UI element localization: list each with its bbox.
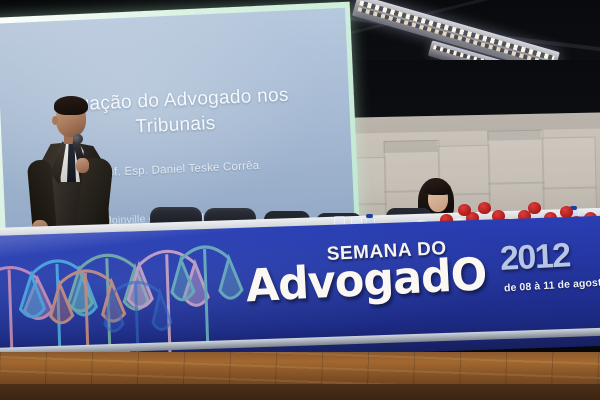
speaker-hand-holding-mic — [76, 158, 89, 173]
red-rose — [528, 202, 541, 214]
banner-advogado-label: AdvogadO — [245, 249, 488, 313]
stage-floor-front-shadow — [0, 384, 600, 400]
banner-dates-label: de 08 à 11 de agosto — [504, 276, 600, 294]
speaker-hair — [54, 96, 88, 115]
speaker-ear — [52, 116, 58, 125]
conference-photo-scene: Atuação do Advogado nos Tribunais Prof. … — [0, 0, 600, 400]
red-rose — [458, 204, 471, 216]
speaker-person — [28, 92, 114, 244]
bottle-cap — [366, 214, 373, 218]
banner-year-label: 2012 — [499, 236, 571, 278]
red-rose — [478, 202, 491, 214]
panelist-fringe — [425, 182, 451, 195]
